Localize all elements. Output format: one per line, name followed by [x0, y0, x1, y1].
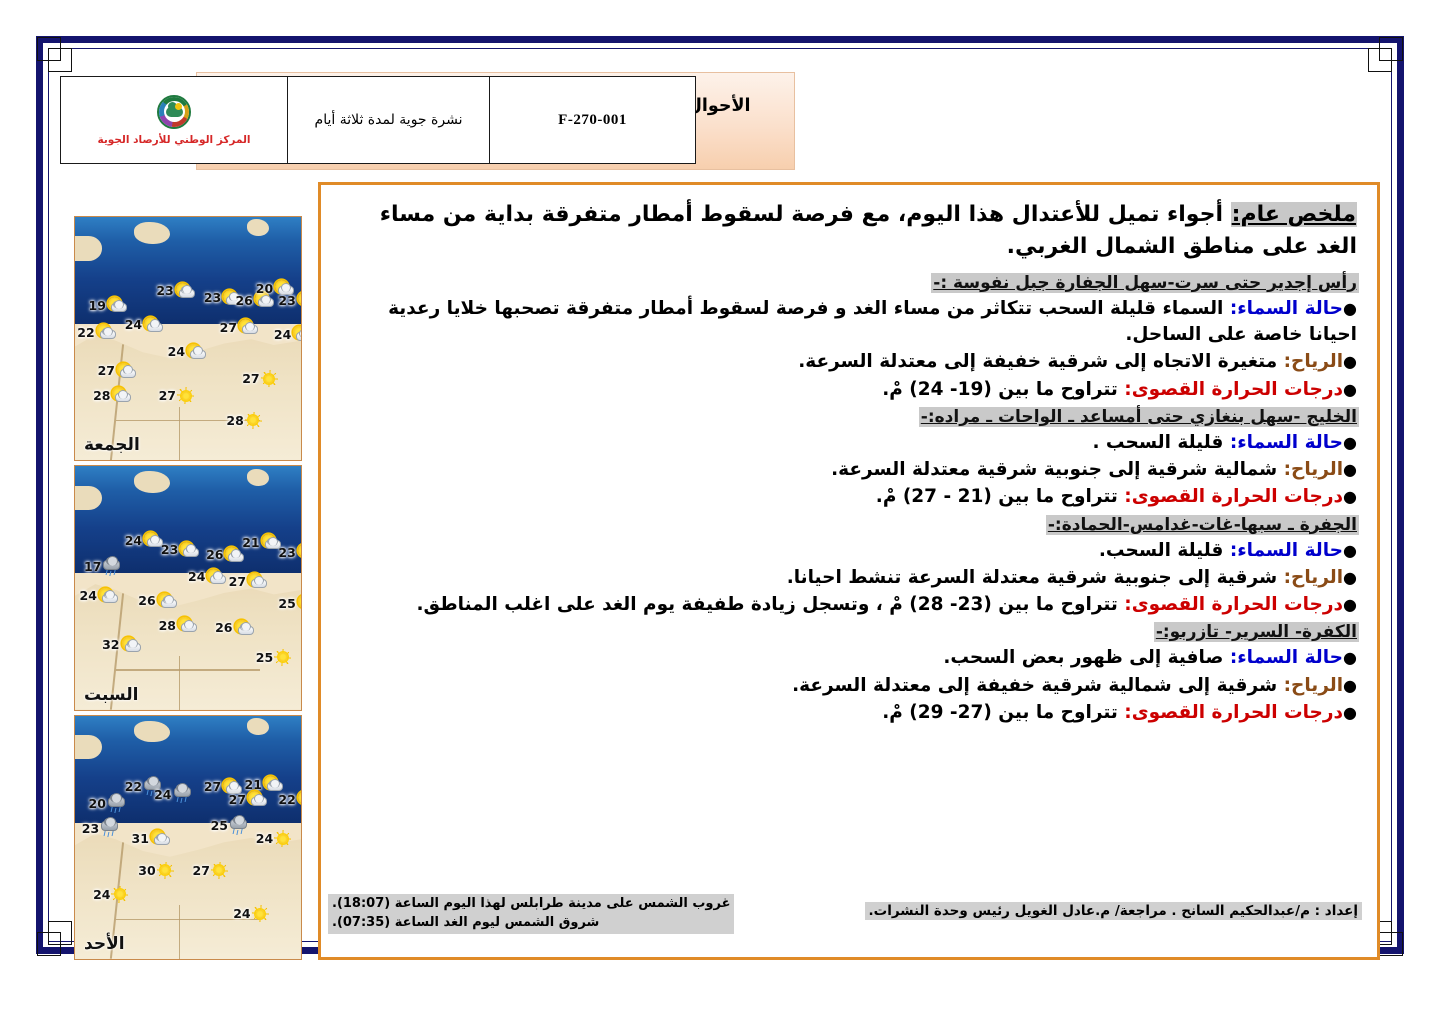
- weather-station-marker: 27: [98, 363, 136, 379]
- weather-station-marker: 21: [245, 776, 283, 792]
- station-temperature: 31: [132, 831, 149, 846]
- bullet-icon: ●: [1343, 460, 1357, 479]
- weather-station-marker: 25: [256, 649, 291, 666]
- sun-cloud-icon: [175, 283, 195, 299]
- station-temperature: 26: [235, 293, 252, 308]
- temperature-row: ●درجات الحرارة القصوى: تتراوح ما بين (23…: [335, 592, 1357, 618]
- temperature-text: تتراوح ما بين (23- 28) مْ ، وتسجل زيادة …: [417, 594, 1125, 615]
- sun-icon: [177, 387, 194, 404]
- region-heading: الكفرة- السرير- تازربو:-: [1154, 622, 1359, 642]
- header-identification-table: F-270-001 نشرة جوية لمدة ثلاثة أيام المر…: [60, 76, 696, 164]
- sun-cloud-icon: [157, 593, 177, 609]
- bullet-icon: ●: [1343, 595, 1357, 614]
- general-summary-text: أجواء تميل للأعتدال هذا اليوم، مع فرصة ل…: [380, 202, 1357, 259]
- island-shape: [75, 236, 102, 260]
- station-temperature: 26: [206, 547, 223, 562]
- forecast-map-sunday[interactable]: 222427212722202325312430272424 الأحد: [74, 715, 302, 960]
- station-temperature: 20: [256, 281, 273, 296]
- temperature-text: تتراوح ما بين (21 - 27) مْ.: [876, 486, 1125, 507]
- wind-row: ●الرياح: متغيرة الاتجاه إلى شرقية خفيفة …: [335, 349, 1357, 375]
- station-temperature: 23: [278, 545, 295, 560]
- station-temperature: 23: [156, 283, 173, 298]
- sky-text: صافية إلى ظهور بعض السحب.: [943, 647, 1230, 668]
- bullet-icon: ●: [1343, 352, 1357, 371]
- station-temperature: 21: [245, 777, 262, 792]
- sun-cloud-icon: [292, 326, 302, 342]
- temperature-label: درجات الحرارة القصوى:: [1124, 486, 1343, 507]
- station-temperature: 24: [125, 317, 142, 332]
- island-shape: [75, 486, 102, 510]
- sun-icon: [157, 862, 174, 879]
- station-temperature: 25: [278, 596, 295, 611]
- station-temperature: 24: [233, 906, 250, 921]
- sun-cloud-icon: [96, 324, 116, 340]
- map-day-label: السبت: [84, 685, 138, 705]
- country-border-line: [179, 407, 181, 461]
- station-temperature: 19: [89, 298, 106, 313]
- sun-cloud-icon: [297, 791, 302, 807]
- forecast-text-panel: ملخص عام: أجواء تميل للأعتدال هذا اليوم،…: [318, 182, 1380, 960]
- bullet-icon: ●: [1343, 433, 1357, 452]
- sun-cloud-icon: [297, 595, 302, 611]
- rain-cloud-icon: [107, 796, 127, 812]
- weather-station-marker: 27: [229, 791, 267, 807]
- forecast-map-friday[interactable]: 23192326202322242724242728272728 الجمعة: [74, 216, 302, 461]
- bullet-icon: ●: [1343, 676, 1357, 695]
- weather-station-marker: 24: [125, 317, 163, 333]
- island-shape: [134, 721, 170, 743]
- weather-station-marker: 24: [80, 588, 118, 604]
- station-temperature: 25: [211, 818, 228, 833]
- station-temperature: 24: [274, 327, 291, 342]
- weather-station-marker: 24: [168, 344, 206, 360]
- sky-condition-row: ●حالة السماء: صافية إلى ظهور بعض السحب.: [335, 645, 1357, 671]
- station-temperature: 24: [256, 831, 273, 846]
- weather-station-marker: 24: [188, 569, 226, 585]
- country-border-line: [179, 905, 181, 959]
- station-temperature: 27: [242, 371, 259, 386]
- sun-cloud-icon: [107, 297, 127, 313]
- sky-label: حالة السماء:: [1230, 432, 1343, 453]
- sky-label: حالة السماء:: [1230, 540, 1343, 561]
- station-temperature: 27: [98, 363, 115, 378]
- sun-cloud-icon: [111, 387, 131, 403]
- wind-text: شمالية شرقية إلى جنوبية شرقية معتدلة الس…: [831, 459, 1284, 480]
- station-temperature: 27: [229, 792, 246, 807]
- station-temperature: 27: [229, 574, 246, 589]
- bullet-icon: ●: [1343, 648, 1357, 667]
- station-temperature: 23: [204, 290, 221, 305]
- temperature-row: ●درجات الحرارة القصوى: تتراوح ما بين (27…: [335, 700, 1357, 726]
- region-section-2: الخليج -سهل بنغازي حتى أمساعد ـ الواحات …: [335, 405, 1363, 511]
- weather-station-marker: 28: [93, 387, 131, 403]
- sun-cloud-icon: [98, 588, 118, 604]
- bullet-icon: ●: [1343, 299, 1357, 318]
- weather-station-marker: 24: [154, 786, 192, 802]
- map-day-label: الجمعة: [84, 435, 140, 455]
- temperature-row: ●درجات الحرارة القصوى: تتراوح ما بين (19…: [335, 377, 1357, 403]
- station-temperature: 24: [188, 569, 205, 584]
- sun-icon: [111, 886, 128, 903]
- rain-cloud-icon: [173, 786, 193, 802]
- wind-label: الرياح:: [1284, 675, 1343, 696]
- wind-text: شرقية إلى شمالية شرقية خفيفة إلى معتدلة …: [792, 675, 1284, 696]
- sun-cloud-icon: [150, 830, 170, 846]
- weather-station-marker: 22: [278, 791, 302, 807]
- bulletin-type-cell: نشرة جوية لمدة ثلاثة أيام: [287, 77, 489, 163]
- island-shape: [134, 471, 170, 493]
- forecast-maps-column: 23192326202322242724242728272728 الجمعة …: [74, 216, 302, 960]
- station-temperature: 25: [256, 650, 273, 665]
- sky-text: قليلة السحب.: [1099, 540, 1230, 561]
- map-day-label: الأحد: [84, 934, 125, 954]
- station-temperature: 22: [125, 779, 142, 794]
- station-temperature: 26: [138, 593, 155, 608]
- sun-icon: [252, 905, 269, 922]
- region-section-3: الجفرة ـ سبها-غات-غدامس-الحمادة:- ●حالة …: [335, 513, 1363, 619]
- sky-label: حالة السماء:: [1230, 298, 1343, 319]
- sky-label: حالة السماء:: [1230, 647, 1343, 668]
- station-temperature: 22: [278, 792, 295, 807]
- sun-cloud-icon: [143, 317, 163, 333]
- bullet-icon: ●: [1343, 568, 1357, 587]
- weather-station-marker: 19: [89, 297, 127, 313]
- station-temperature: 30: [138, 863, 155, 878]
- general-summary: ملخص عام: أجواء تميل للأعتدال هذا اليوم،…: [339, 199, 1357, 263]
- station-temperature: 26: [215, 620, 232, 635]
- temperature-text: تتراوح ما بين (19- 24) مْ.: [882, 379, 1124, 400]
- general-summary-label: ملخص عام:: [1231, 202, 1357, 227]
- wind-text: شرقية إلى جنوبية شرقية معتدلة السرعة تنش…: [787, 567, 1284, 588]
- wind-label: الرياح:: [1284, 567, 1343, 588]
- weather-station-marker: 24: [274, 326, 302, 342]
- weather-station-marker: 24: [256, 830, 291, 847]
- station-temperature: 23: [161, 542, 178, 557]
- country-border-line: [116, 669, 261, 671]
- weather-station-marker: 31: [132, 830, 170, 846]
- sun-icon: [261, 370, 278, 387]
- sun-cloud-icon: [238, 319, 258, 335]
- sky-text: السماء قليلة السحب تتكاثر من مساء الغد و…: [388, 298, 1357, 345]
- weather-station-marker: 28: [159, 617, 197, 633]
- region-heading: الخليج -سهل بنغازي حتى أمساعد ـ الواحات …: [919, 407, 1359, 427]
- weather-station-marker: 22: [77, 324, 115, 340]
- weather-station-marker: 24: [93, 886, 128, 903]
- region-heading: رأس إجدير حتى سرت-سهل الجفارة جبل نفوسة …: [931, 273, 1359, 293]
- weather-station-marker: 23: [278, 292, 302, 308]
- temperature-label: درجات الحرارة القصوى:: [1124, 594, 1343, 615]
- form-code-cell: F-270-001: [489, 77, 695, 163]
- weather-station-marker: 27: [229, 573, 267, 589]
- region-section-4: الكفرة- السرير- تازربو:- ●حالة السماء: ص…: [335, 620, 1363, 726]
- sky-condition-row: ●حالة السماء: قليلة السحب.: [335, 538, 1357, 564]
- station-temperature: 24: [125, 533, 142, 548]
- sky-condition-row: ●حالة السماء: قليلة السحب .: [335, 430, 1357, 456]
- header-row: الأحوال الجوية المتوقعة على ليبيا خلال ا…: [60, 68, 1380, 172]
- station-temperature: 23: [278, 293, 295, 308]
- sun-cloud-icon: [297, 544, 302, 560]
- sun-cloud-icon: [247, 573, 267, 589]
- bullet-icon: ●: [1343, 487, 1357, 506]
- island-shape: [134, 222, 170, 244]
- weather-station-marker: 27: [159, 387, 194, 404]
- station-temperature: 24: [80, 588, 97, 603]
- temperature-label: درجات الحرارة القصوى:: [1124, 702, 1343, 723]
- rain-cloud-icon: [229, 818, 249, 834]
- sun-icon: [274, 649, 291, 666]
- station-temperature: 27: [220, 320, 237, 335]
- station-temperature: 28: [226, 413, 243, 428]
- station-temperature: 27: [159, 388, 176, 403]
- wind-label: الرياح:: [1284, 459, 1343, 480]
- sun-cloud-icon: [206, 569, 226, 585]
- station-temperature: 24: [154, 787, 171, 802]
- cloud-sun-logo-icon: [157, 95, 191, 129]
- station-temperature: 22: [77, 325, 94, 340]
- weather-station-marker: 27: [242, 370, 277, 387]
- station-temperature: 27: [193, 863, 210, 878]
- bullet-icon: ●: [1343, 703, 1357, 722]
- weather-station-marker: 23: [161, 542, 199, 558]
- organization-cell: المركز الوطني للأرصاد الجوية: [61, 77, 287, 163]
- weather-station-marker: 30: [138, 862, 173, 879]
- station-temperature: 24: [93, 887, 110, 902]
- weather-station-marker: 17: [84, 559, 122, 575]
- sun-icon: [211, 862, 228, 879]
- forecast-map-saturday[interactable]: 242326212317242724262528263225 السبت: [74, 465, 302, 710]
- station-temperature: 32: [102, 637, 119, 652]
- corner-mark-icon: [48, 921, 72, 945]
- weather-station-marker: 26: [206, 547, 244, 563]
- wind-label: الرياح:: [1284, 351, 1343, 372]
- island-shape: [247, 718, 270, 735]
- station-temperature: 24: [168, 344, 185, 359]
- weather-station-marker: 32: [102, 637, 140, 653]
- sun-cloud-icon: [234, 620, 254, 636]
- weather-station-marker: 25: [278, 595, 302, 611]
- sun-cloud-icon: [263, 776, 283, 792]
- bullet-icon: ●: [1343, 541, 1357, 560]
- country-border-line: [179, 656, 181, 710]
- weather-station-marker: 20: [89, 796, 127, 812]
- weather-station-marker: 23: [156, 283, 194, 299]
- weather-station-marker: 23: [278, 544, 302, 560]
- weather-station-marker: 23: [82, 820, 120, 836]
- weather-station-marker: 21: [242, 534, 280, 550]
- station-temperature: 28: [93, 388, 110, 403]
- sun-cloud-icon: [121, 637, 141, 653]
- station-temperature: 21: [242, 535, 259, 550]
- wind-row: ●الرياح: شرقية إلى جنوبية شرقية معتدلة ا…: [335, 565, 1357, 591]
- sun-cloud-icon: [116, 363, 136, 379]
- weather-station-marker: 24: [125, 532, 163, 548]
- weather-station-marker: 27: [220, 319, 258, 335]
- temperature-label: درجات الحرارة القصوى:: [1124, 379, 1343, 400]
- temperature-text: تتراوح ما بين (27- 29) مْ.: [882, 702, 1124, 723]
- region-heading: الجفرة ـ سبها-غات-غدامس-الحمادة:-: [1046, 515, 1359, 535]
- station-temperature: 23: [82, 821, 99, 836]
- organization-name: المركز الوطني للأرصاد الجوية: [97, 134, 250, 146]
- island-shape: [247, 469, 270, 486]
- temperature-row: ●درجات الحرارة القصوى: تتراوح ما بين (21…: [335, 484, 1357, 510]
- rain-cloud-icon: [102, 559, 122, 575]
- sun-cloud-icon: [186, 344, 206, 360]
- wind-text: متغيرة الاتجاه إلى شرقية خفيفة إلى معتدل…: [798, 351, 1283, 372]
- wind-row: ●الرياح: شرقية إلى شمالية شرقية خفيفة إل…: [335, 673, 1357, 699]
- sun-icon: [245, 412, 262, 429]
- sky-condition-row: ●حالة السماء: السماء قليلة السحب تتكاثر …: [335, 296, 1357, 349]
- sun-cloud-icon: [177, 617, 197, 633]
- bullet-icon: ●: [1343, 380, 1357, 399]
- sun-cloud-icon: [297, 292, 302, 308]
- region-section-1: رأس إجدير حتى سرت-سهل الجفارة جبل نفوسة …: [335, 271, 1363, 403]
- sun-cloud-icon: [247, 791, 267, 807]
- weather-station-marker: 26: [138, 593, 176, 609]
- wind-row: ●الرياح: شمالية شرقية إلى جنوبية شرقية م…: [335, 457, 1357, 483]
- station-temperature: 20: [89, 796, 106, 811]
- weather-station-marker: 28: [226, 412, 261, 429]
- weather-station-marker: 25: [211, 818, 249, 834]
- weather-station-marker: 24: [233, 905, 268, 922]
- station-temperature: 27: [204, 779, 221, 794]
- station-temperature: 28: [159, 618, 176, 633]
- weather-station-marker: 26: [215, 620, 253, 636]
- sky-text: قليلة السحب .: [1092, 432, 1229, 453]
- station-temperature: 17: [84, 559, 101, 574]
- weather-station-marker: 27: [193, 862, 228, 879]
- sun-icon: [274, 830, 291, 847]
- sun-cloud-icon: [179, 542, 199, 558]
- rain-cloud-icon: [100, 820, 120, 836]
